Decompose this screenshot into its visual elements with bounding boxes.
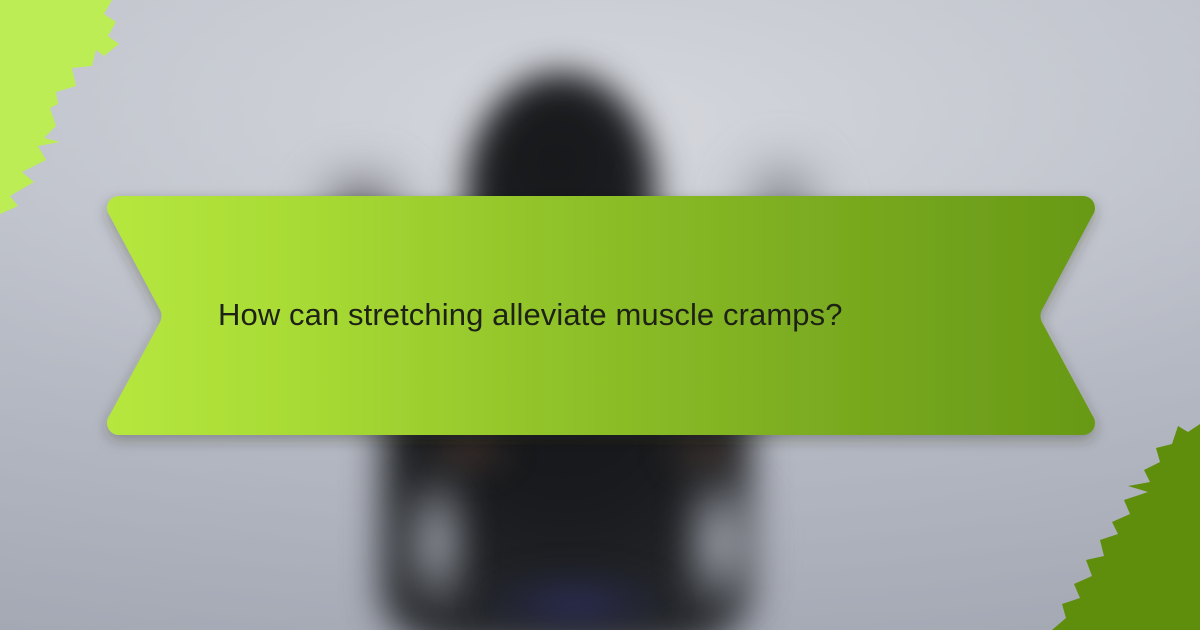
subject-waist-highlight-left — [352, 470, 462, 630]
banner-heading: How can stretching alleviate muscle cram… — [218, 196, 988, 435]
subject-waist-highlight-right — [690, 470, 820, 630]
subject-garment-detail — [480, 566, 670, 630]
share-card-canvas: How can stretching alleviate muscle cram… — [0, 0, 1200, 630]
ribbon-banner: How can stretching alleviate muscle cram… — [107, 196, 1095, 435]
